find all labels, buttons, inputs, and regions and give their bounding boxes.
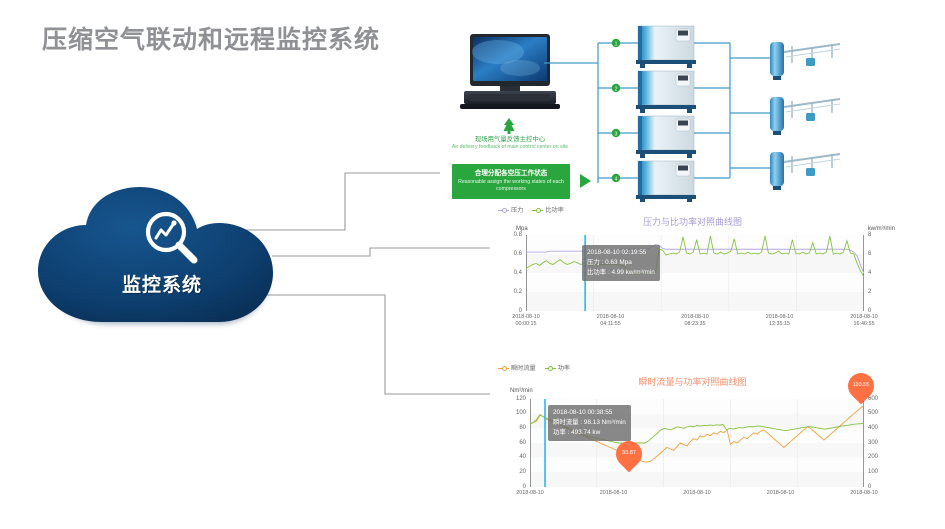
chart0-ytick: 0.6 (490, 251, 522, 257)
chart1-min-marker-label: 33.87 (616, 441, 642, 467)
chart0-ytick-right: 2 (868, 289, 871, 295)
chart1-legend-item[interactable]: 瞬时流量 (498, 365, 536, 372)
chart0-plot[interactable] (526, 235, 864, 311)
chart1-tooltip-line2: 功率 : 493.74 kw (553, 428, 626, 438)
chart1-xtick: 2018-08-10 (500, 490, 560, 497)
chart1-ytick-right: 400 (868, 425, 878, 431)
chart1-legend-label: 瞬时流量 (511, 365, 536, 372)
chart0-tooltip: 2018-08-10 02:19:55 压力 : 0.63 Mpa 比功率 : … (582, 245, 660, 281)
svg-text:1: 1 (615, 41, 618, 47)
monitoring-system-cloud[interactable]: 监控系统 (36, 186, 288, 326)
chart0-ytick-right: 6 (868, 251, 871, 257)
chart1-tooltip: 2018-08-10 00:38:55 瞬时流量 : 98.13 Nm³/min… (548, 405, 631, 441)
chart0-ytick-right: 4 (868, 270, 871, 276)
chart0-xtick: 2018-08-1004:11:55 (581, 314, 641, 329)
chart1-legend-label: 功率 (558, 365, 570, 372)
legend-marker-icon (498, 207, 509, 213)
chart1-ytick-right: 500 (868, 410, 878, 416)
chart1-ytick: 120 (490, 396, 526, 402)
chart0-xtick: 2018-08-1000:00:15 (496, 314, 556, 329)
legend-marker-icon (545, 365, 556, 371)
chart0-ytick: 0.4 (490, 270, 522, 276)
chart1-ytick-right: 200 (868, 454, 878, 460)
chart1-max-marker: 110.55 (843, 368, 880, 405)
pressure-power-chart[interactable]: 压力比功率 压力与比功率对照曲线图 Mpa kw/m³/min 0.80.60.… (490, 205, 895, 335)
chart1-ytick: 20 (490, 469, 526, 475)
chart0-title: 压力与比功率对照曲线图 (490, 215, 895, 228)
chart0-legend-item[interactable]: 压力 (498, 207, 523, 214)
chart1-xtick: 2018-08-10 (834, 490, 894, 497)
chart1-ytick-right: 100 (868, 469, 878, 475)
legend-marker-icon (498, 365, 509, 371)
cloud-label: 监控系统 (36, 270, 288, 297)
chart0-xtick: 2018-08-1016:46:55 (834, 314, 894, 329)
chart0-ylabel-right: kw/m³/min (868, 226, 895, 232)
chart0-ytick-right: 0 (868, 308, 871, 314)
chart1-max-marker-label: 110.55 (848, 373, 874, 399)
page-title: 压缩空气联动和远程监控系统 (42, 20, 380, 56)
chart1-ytick-right: 0 (868, 484, 871, 490)
chart1-xtick: 2018-08-10 (751, 490, 811, 497)
chart1-ylabel: Nm³/min (510, 388, 533, 394)
magnifier-chart-icon (140, 208, 202, 266)
chart1-ytick: 40 (490, 454, 526, 460)
chart0-tooltip-line1: 压力 : 0.63 Mpa (587, 258, 655, 268)
chart0-legend-label: 压力 (511, 207, 523, 214)
chart1-min-marker: 33.87 (611, 436, 648, 473)
chart0-xtick: 2018-08-1012:35:15 (750, 314, 810, 329)
chart0-ytick: 0 (490, 308, 522, 314)
chart1-xtick: 2018-08-10 (584, 490, 644, 497)
chart0-legend-label: 比功率 (545, 207, 564, 214)
flow-power-chart[interactable]: 瞬时流量功率 瞬时流量与功率对照曲线图 Nm³/min 120100806040… (490, 363, 895, 513)
svg-text:2: 2 (615, 86, 618, 92)
chart1-xtick: 2018-08-10 (667, 490, 727, 497)
chart0-tooltip-time: 2018-08-10 02:19:55 (587, 248, 655, 258)
chart1-ytick: 60 (490, 440, 526, 446)
chart0-tooltip-line2: 比功率 : 4.99 kw/m³/min (587, 268, 655, 278)
system-diagram-panel: 现场用气量反馈主控中心 Air delivery feedback of mai… (440, 18, 940, 203)
chart1-ytick-right: 300 (868, 440, 878, 446)
legend-marker-icon (532, 207, 543, 213)
chart1-ytick: 100 (490, 410, 526, 416)
chart1-legend: 瞬时流量功率 (498, 363, 579, 372)
slide-canvas: 压缩空气联动和远程监控系统 监控系统 (0, 0, 945, 529)
chart1-ytick: 0 (490, 484, 526, 490)
svg-text:3: 3 (615, 131, 618, 137)
chart1-tooltip-time: 2018-08-10 00:38:55 (553, 408, 626, 418)
chart1-legend-item[interactable]: 功率 (545, 365, 570, 372)
chart1-title: 瞬时流量与功率对照曲线图 (490, 375, 895, 388)
chart1-tooltip-line1: 瞬时流量 : 98.13 Nm³/min (553, 418, 626, 428)
svg-text:4: 4 (615, 176, 618, 182)
chart0-ytick: 0.8 (490, 232, 522, 238)
chart0-ytick: 0.2 (490, 289, 522, 295)
chart0-legend-item[interactable]: 比功率 (532, 207, 564, 214)
chart0-xtick: 2018-08-1008:23:35 (665, 314, 725, 329)
compressor-network-diagram: 1 2 3 4 (440, 18, 940, 203)
chart0-ytick-right: 8 (868, 232, 871, 238)
chart1-ytick: 80 (490, 425, 526, 431)
chart0-legend: 压力比功率 (498, 205, 573, 214)
